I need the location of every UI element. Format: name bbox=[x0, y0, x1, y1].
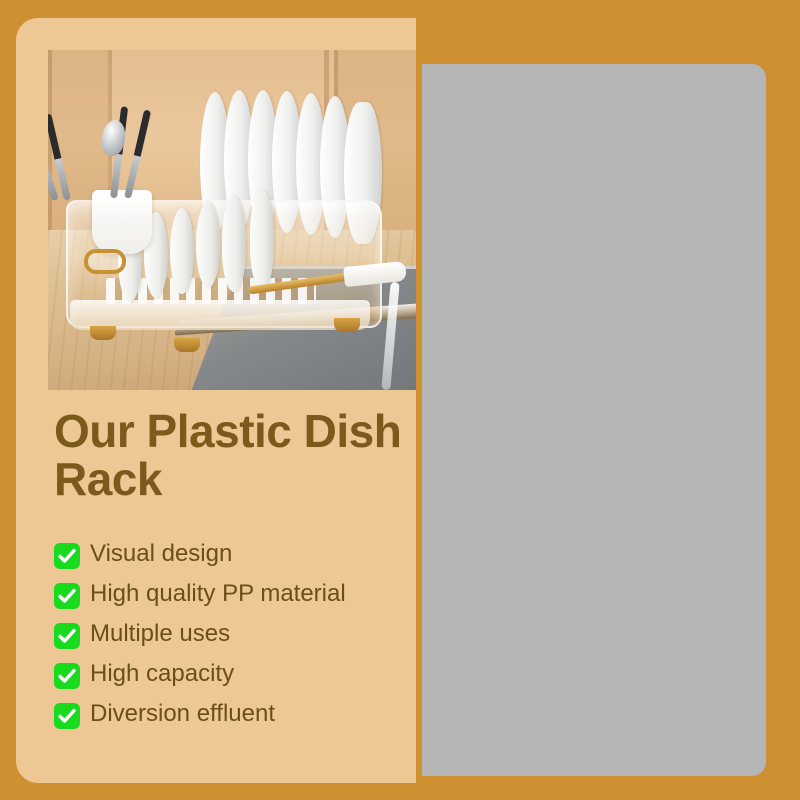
check-icon bbox=[54, 663, 80, 689]
our-product-title: Our Plastic Dish Rack bbox=[54, 408, 414, 504]
plate-front bbox=[170, 208, 194, 294]
list-item-label: High quality PP material bbox=[90, 580, 346, 607]
gold-handle bbox=[84, 249, 126, 274]
plate-front bbox=[196, 202, 220, 288]
list-item-label: Diversion effluent bbox=[90, 700, 275, 727]
check-icon bbox=[54, 583, 80, 609]
plate-front bbox=[222, 196, 246, 292]
list-item: High quality PP material bbox=[54, 580, 416, 609]
comparison-infographic: Our Plastic Dish Rack Visual design High… bbox=[0, 0, 800, 800]
list-item: Multiple uses bbox=[54, 620, 416, 649]
check-icon bbox=[54, 623, 80, 649]
cutlery-holder bbox=[92, 190, 152, 254]
our-product-panel: Our Plastic Dish Rack Visual design High… bbox=[16, 18, 416, 783]
rack-foot bbox=[174, 338, 200, 352]
rack-foot bbox=[90, 326, 116, 340]
check-icon bbox=[54, 543, 80, 569]
others-product-panel: Others Iron Dish Rack Get rusty easily H… bbox=[422, 64, 766, 776]
rack-foot bbox=[334, 318, 360, 332]
list-item-label: Multiple uses bbox=[90, 620, 230, 647]
our-product-photo bbox=[48, 50, 416, 390]
list-item: Visual design bbox=[54, 540, 416, 569]
list-item: High capacity bbox=[54, 660, 416, 689]
list-item: Diversion effluent bbox=[54, 700, 416, 729]
plate-front bbox=[250, 190, 274, 290]
list-item-label: Visual design bbox=[90, 540, 232, 567]
check-icon bbox=[54, 703, 80, 729]
list-item-label: High capacity bbox=[90, 660, 234, 687]
pros-list: Visual design High quality PP material M… bbox=[54, 540, 416, 740]
